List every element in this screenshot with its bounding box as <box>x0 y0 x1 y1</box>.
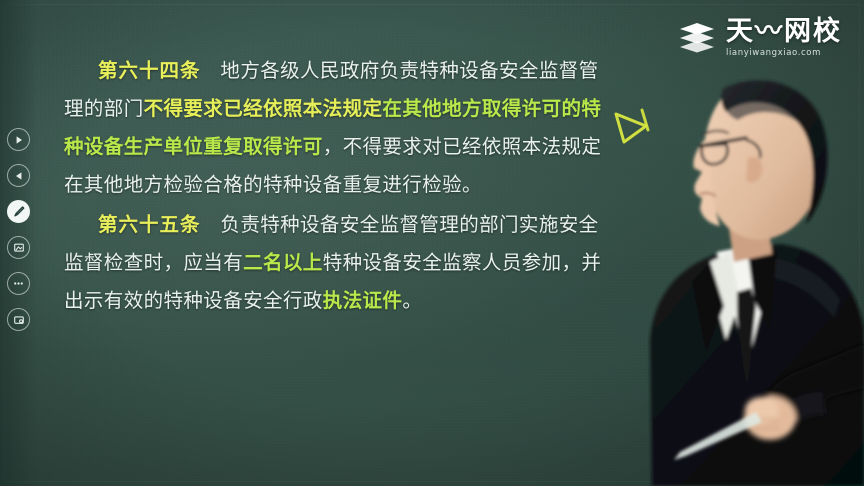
player-toolbar[interactable] <box>0 0 37 486</box>
toolbar-more-button[interactable] <box>7 272 30 295</box>
lecture-line: 出示有效的特种设备安全行政执法证件。 <box>64 282 700 320</box>
lecture-paragraph-article-65: 第六十五条 负责特种设备安全监督管理的部门实施安全监督检查时，应当有二名以上特种… <box>64 206 700 320</box>
text-run-title: 第六十五条 <box>98 213 201 236</box>
text-run-plain: 理的部门 <box>64 97 144 120</box>
lecture-line: 第六十四条 地方各级人民政府负责特种设备安全监督管 <box>64 52 700 90</box>
video-frame: 第六十四条 地方各级人民政府负责特种设备安全监督管理的部门不得要求已经依照本法规… <box>0 0 864 486</box>
logo-mark-icon <box>677 20 717 56</box>
toolbar-play-button[interactable] <box>7 128 30 151</box>
lecture-line: 在其他地方检验合格的特种设备重复进行检验。 <box>64 166 700 204</box>
text-run-yellow: 不得要求已经依照本法规定 <box>144 97 383 120</box>
brand-logo: 天〰网校 lianyiwangxiao.com <box>677 18 842 58</box>
lecture-text-layer: 第六十四条 地方各级人民政府负责特种设备安全监督管理的部门不得要求已经依照本法规… <box>0 0 700 322</box>
text-run-plain: 在其他地方检验合格的特种设备重复进行检验。 <box>64 173 482 196</box>
text-run-plain: 特种设备安全监察人员参加，并 <box>323 251 602 274</box>
toolbar-pen-button[interactable] <box>7 200 30 223</box>
text-run-plain: 出示有效的特种设备安全行政 <box>64 289 323 312</box>
text-run-plain: 。 <box>402 289 422 312</box>
text-run-green: 在其他地方取得许可的特 <box>382 97 601 120</box>
lecture-line: 监督检查时，应当有二名以上特种设备安全监察人员参加，并 <box>64 244 700 282</box>
lecture-line: 第六十五条 负责特种设备安全监督管理的部门实施安全 <box>64 206 700 244</box>
lecture-line: 种设备生产单位重复取得许可，不得要求对已经依照本法规定 <box>64 128 700 166</box>
text-run-green: 种设备生产单位重复取得许可 <box>64 135 323 158</box>
toolbar-whiteboard-button[interactable] <box>7 236 30 259</box>
logo-domain: lianyiwangxiao.com <box>726 48 821 58</box>
lecture-line: 理的部门不得要求已经依照本法规定在其他地方取得许可的特 <box>64 90 700 128</box>
toolbar-screenshot-button[interactable] <box>7 308 30 331</box>
text-run-plain: ，不得要求对已经依照本法规定 <box>323 135 602 158</box>
text-run-plain: 负责特种设备安全监督管理的部门实施安全 <box>201 213 599 236</box>
text-run-plain: 监督检查时，应当有 <box>64 251 243 274</box>
lecture-paragraph-article-64: 第六十四条 地方各级人民政府负责特种设备安全监督管理的部门不得要求已经依照本法规… <box>64 52 700 204</box>
logo-brand-name: 天〰网校 <box>726 18 842 46</box>
text-run-title: 第六十四条 <box>98 59 201 82</box>
text-run-green: 执法证件 <box>323 289 403 312</box>
toolbar-back-button[interactable] <box>7 164 30 187</box>
text-run-green: 二名以上 <box>243 251 323 274</box>
text-run-plain: 地方各级人民政府负责特种设备安全监督管 <box>201 59 599 82</box>
